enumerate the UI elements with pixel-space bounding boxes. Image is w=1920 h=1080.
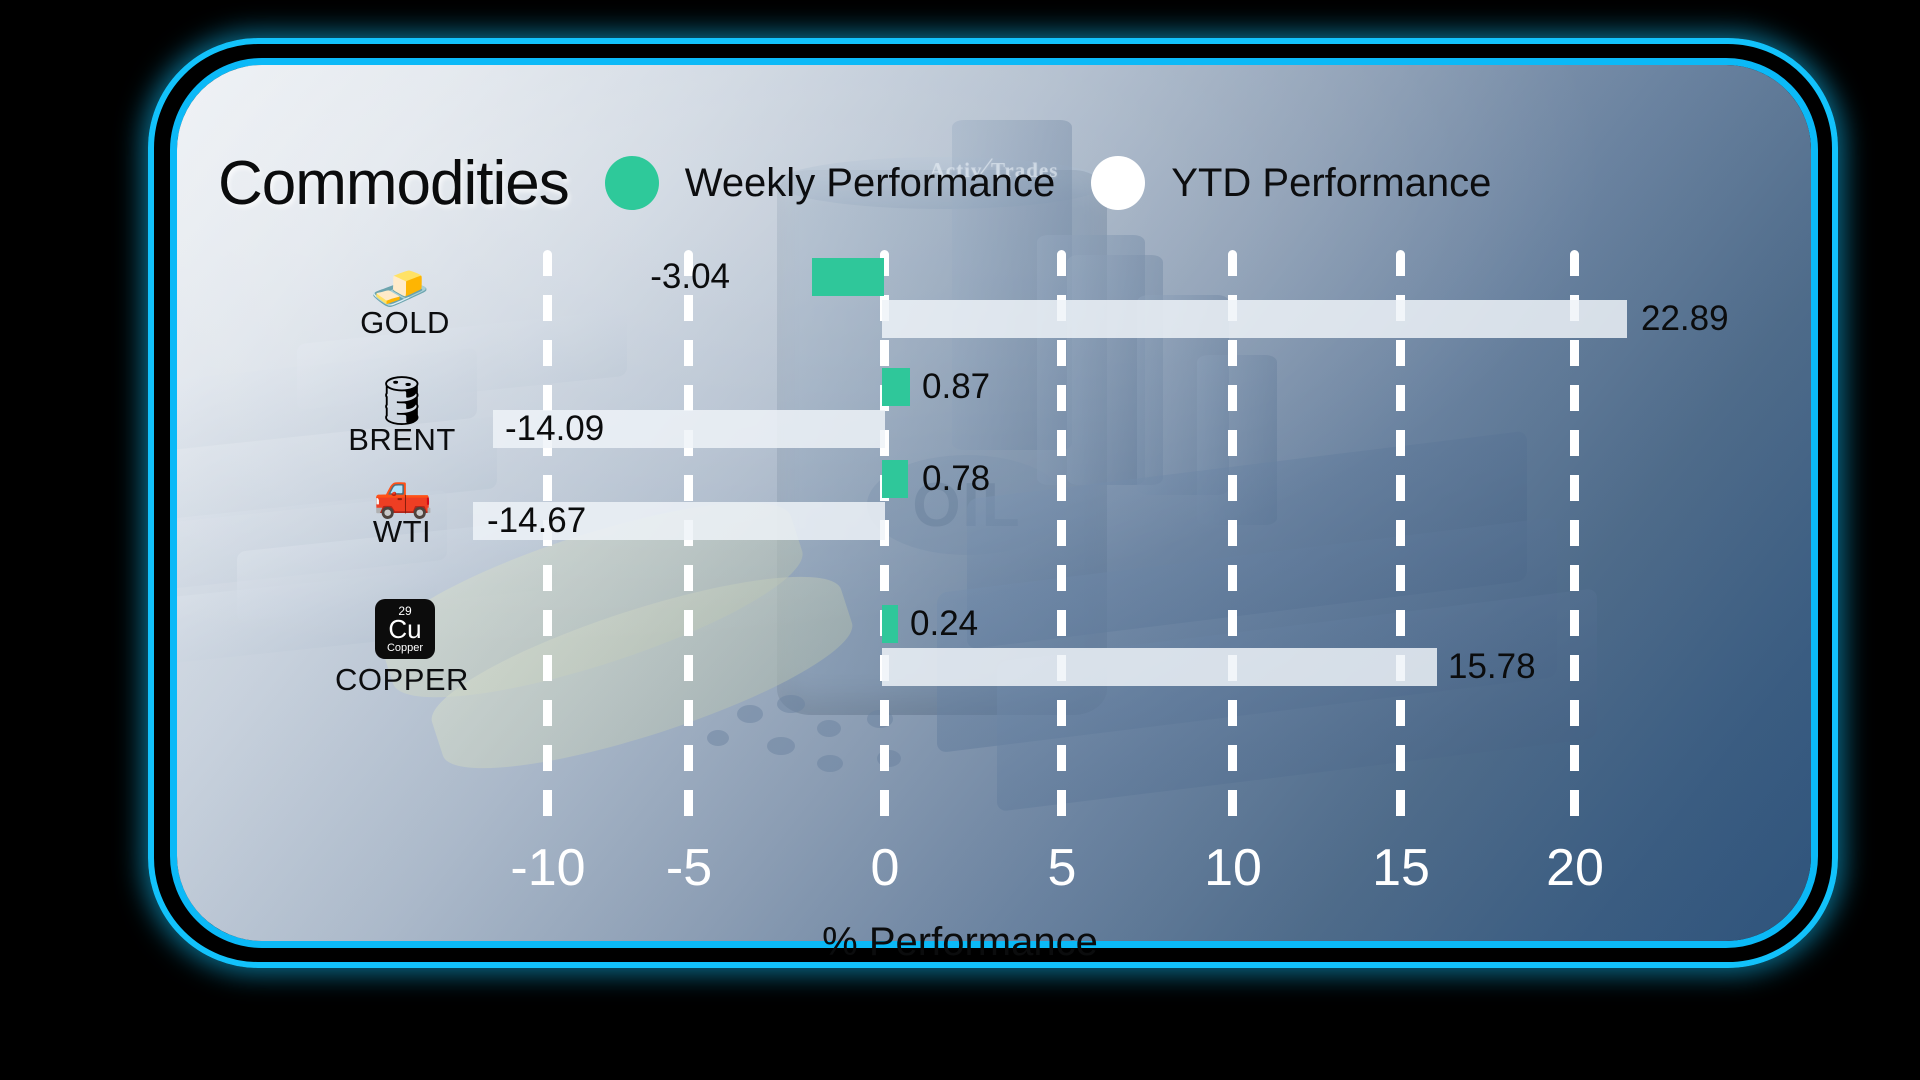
plot-area: 🧈 GOLD -3.04 22.89 🛢 BRENT 0.87 -14.09 🛻…: [0, 250, 1920, 832]
bar-weekly-copper[interactable]: [882, 605, 898, 643]
x-tick-10: 10: [1153, 838, 1313, 898]
x-tick-20: 20: [1495, 838, 1655, 898]
x-tick--5: -5: [609, 838, 769, 898]
bar-ytd-gold[interactable]: [882, 300, 1627, 338]
page-title: Commodities: [218, 148, 569, 219]
legend-label-weekly: Weekly Performance: [685, 161, 1056, 206]
chart-header: Commodities Weekly Performance YTD Perfo…: [218, 150, 1618, 216]
bar-weekly-wti[interactable]: [882, 460, 908, 498]
table-row: 29 Cu Copper COPPER 0.24 15.78: [0, 645, 1920, 790]
bar-label-weekly-gold: -3.04: [650, 258, 730, 296]
x-tick-5: 5: [982, 838, 1142, 898]
copper-word: Copper: [387, 642, 423, 654]
bar-label-weekly-brent: 0.87: [922, 368, 990, 406]
category-label-copper: COPPER: [272, 662, 532, 698]
bar-label-weekly-copper: 0.24: [910, 605, 978, 643]
x-axis-title: % Performance: [0, 920, 1920, 965]
copper-element-icon: 29 Cu Copper: [370, 597, 440, 661]
bar-label-ytd-gold: 22.89: [1641, 300, 1729, 338]
legend-marker-weekly: [605, 156, 659, 210]
x-tick--10: -10: [468, 838, 628, 898]
copper-symbol: Cu: [388, 617, 421, 642]
x-tick-15: 15: [1321, 838, 1481, 898]
legend-label-ytd: YTD Performance: [1171, 161, 1491, 206]
bar-label-ytd-brent: -14.09: [505, 410, 604, 448]
category-label-gold: GOLD: [275, 305, 535, 341]
bar-ytd-copper[interactable]: [882, 648, 1437, 686]
bar-weekly-gold[interactable]: [812, 258, 884, 296]
screenshot-root: OIL Activ/Trades: [0, 0, 1920, 1080]
legend-marker-ytd: [1091, 156, 1145, 210]
bar-label-ytd-copper: 15.78: [1448, 648, 1536, 686]
x-tick-0: 0: [805, 838, 965, 898]
bar-weekly-brent[interactable]: [882, 368, 910, 406]
bar-label-weekly-wti: 0.78: [922, 460, 990, 498]
bar-label-ytd-wti: -14.67: [487, 502, 586, 540]
